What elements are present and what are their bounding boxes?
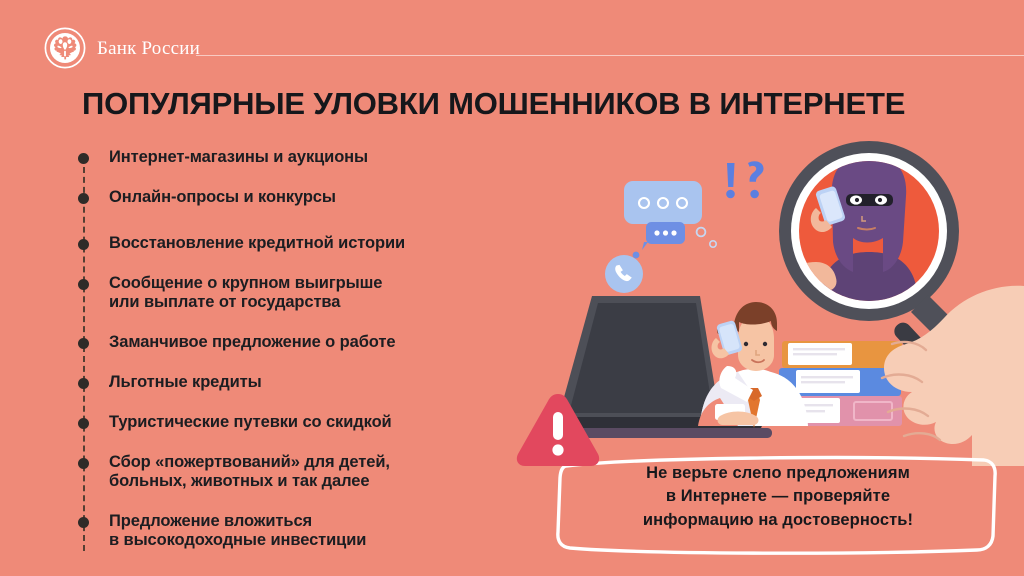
- list-item: Предложение вложиться в высокодоходные и…: [78, 512, 548, 551]
- warning-triangle-icon: [510, 386, 606, 474]
- bubble-dot-icon: [633, 252, 640, 259]
- page-title: ПОПУЛЯРНЫЕ УЛОВКИ МОШЕННИКОВ В ИНТЕРНЕТЕ: [82, 86, 905, 122]
- list-item-label: Заманчивое предложение о работе: [109, 333, 395, 352]
- list-item: Онлайн-опросы и конкурсы: [78, 188, 548, 208]
- list-item-label: Сообщение о крупном выигрыше или выплате…: [109, 274, 382, 313]
- bullet-dot-icon: [78, 193, 89, 204]
- slide-root: Банк России ПОПУЛЯРНЫЕ УЛОВКИ МОШЕННИКОВ…: [0, 0, 1024, 576]
- chat-bubble-large-icon: [624, 181, 702, 224]
- header: Банк России: [0, 0, 1024, 78]
- bullet-dot-icon: [78, 338, 89, 349]
- bullet-dot-icon: [78, 418, 89, 429]
- callout-text: Не верьте слепо предложениям в Интернете…: [552, 462, 1004, 532]
- header-divider: [196, 55, 1024, 56]
- list-item-label: Льготные кредиты: [109, 373, 262, 392]
- bullet-dot-icon: [78, 153, 89, 164]
- bank-of-russia-emblem-icon: [44, 27, 86, 69]
- list-item: Восстановление кредитной истории: [78, 234, 548, 254]
- list-item-label: Онлайн-опросы и конкурсы: [109, 188, 336, 207]
- brand-name: Банк России: [97, 38, 200, 60]
- list-item-label: Интернет-магазины и аукционы: [109, 148, 368, 167]
- list-item: Интернет-магазины и аукционы: [78, 148, 548, 168]
- list-item: Сообщение о крупном выигрыше или выплате…: [78, 274, 548, 313]
- list-item-label: Сбор «пожертвований» для детей, больных,…: [109, 453, 390, 492]
- bullet-dot-icon: [78, 458, 89, 469]
- brand-lockup: Банк России: [44, 27, 200, 69]
- bullet-dot-icon: [78, 517, 89, 528]
- bullet-dot-icon: [78, 239, 89, 250]
- tricks-list: Интернет-магазины и аукционы Онлайн-опро…: [78, 148, 548, 565]
- bubble-dot-icon: [697, 228, 706, 237]
- warning-callout: Не верьте слепо предложениям в Интернете…: [552, 444, 1004, 558]
- list-item: Льготные кредиты: [78, 373, 548, 393]
- exclamation-mark-icon: [726, 163, 735, 198]
- question-mark-icon: [748, 161, 764, 198]
- chat-bubble-small-icon: [642, 222, 685, 250]
- list-item: Заманчивое предложение о работе: [78, 333, 548, 353]
- bullet-dot-icon: [78, 378, 89, 389]
- bullet-dot-icon: [78, 279, 89, 290]
- bubble-dot-icon: [710, 241, 716, 247]
- list-item: Сбор «пожертвований» для детей, больных,…: [78, 453, 548, 492]
- list-item: Туристические путевки со скидкой: [78, 413, 548, 433]
- phone-circle-icon: [605, 255, 643, 293]
- list-item-label: Восстановление кредитной истории: [109, 234, 405, 253]
- list-item-label: Туристические путевки со скидкой: [109, 413, 392, 432]
- list-item-label: Предложение вложиться в высокодоходные и…: [109, 512, 366, 551]
